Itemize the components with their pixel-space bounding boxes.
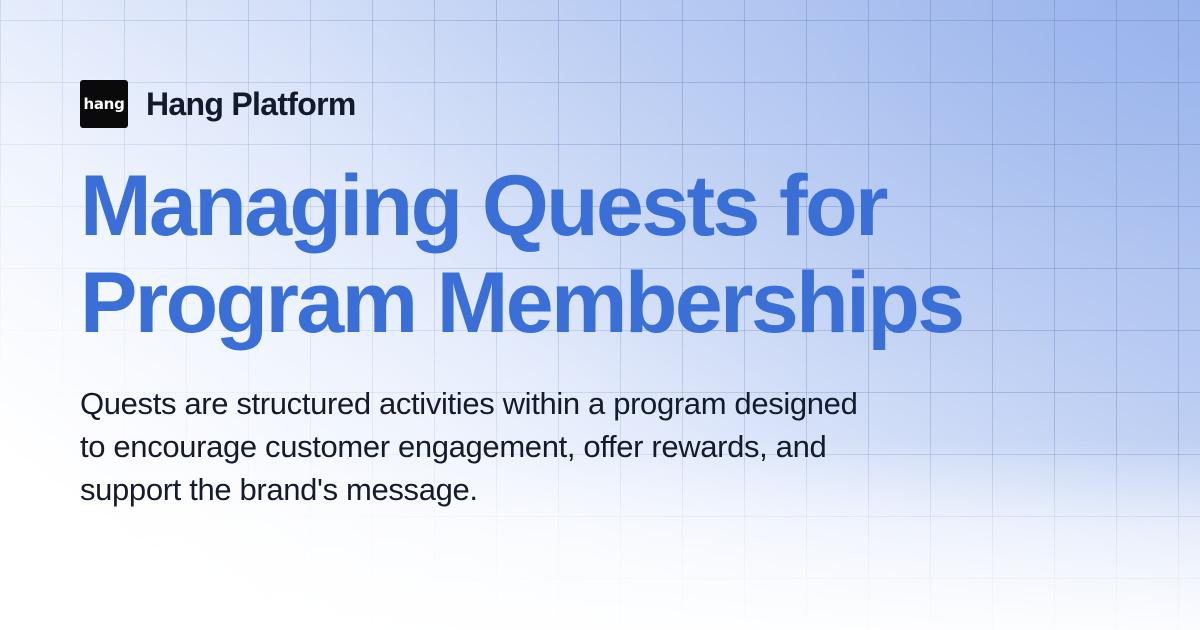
page-title: Managing Quests for Program Memberships	[80, 158, 963, 352]
page-title-line-1: Managing Quests for	[80, 158, 963, 255]
card-content: hang Hang Platform Managing Quests for P…	[80, 0, 1140, 630]
page-title-line-2: Program Memberships	[80, 255, 963, 352]
page-summary: Quests are structured activities within …	[80, 382, 870, 511]
brand-lockup: hang Hang Platform	[80, 80, 356, 128]
hang-logo-icon: hang	[80, 80, 128, 128]
og-banner-card: hang Hang Platform Managing Quests for P…	[0, 0, 1200, 630]
brand-name-label: Hang Platform	[146, 88, 356, 120]
hang-logo-wordmark: hang	[83, 97, 124, 112]
